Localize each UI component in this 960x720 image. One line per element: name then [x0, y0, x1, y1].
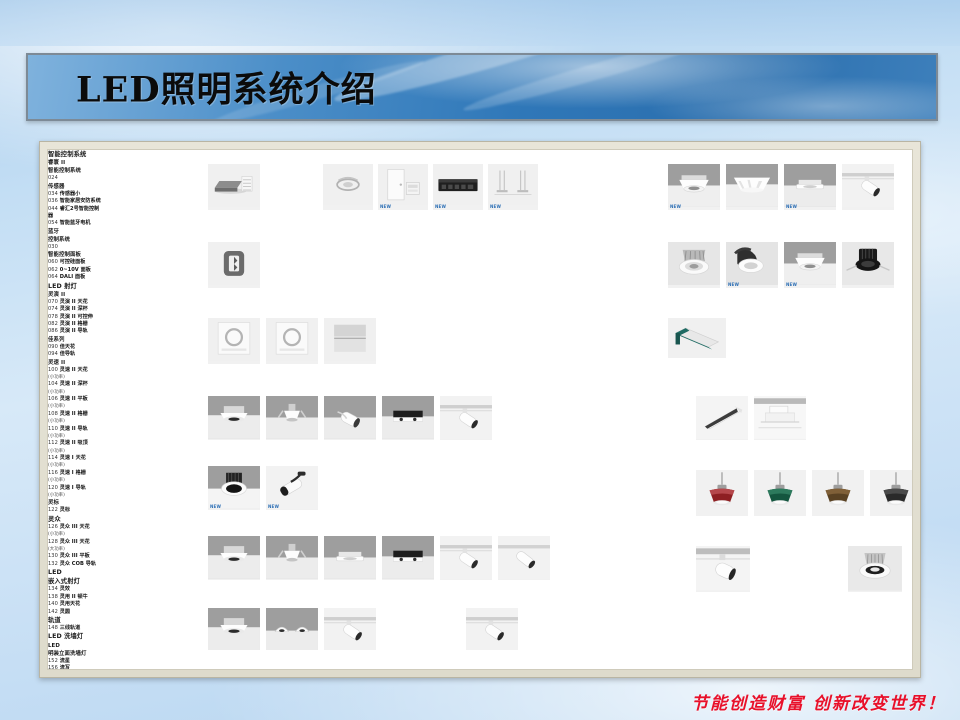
catalog-content: 智能控制系统睿寰 II 智能控制系统024传感器034 传感器小NEW036 智…	[48, 150, 912, 669]
product-thumbnail	[266, 608, 318, 650]
product-caption: 134 灵效	[48, 586, 106, 593]
product-caption: 126 灵众 III 天花(小功率)	[48, 524, 106, 539]
product-thumbnail	[668, 242, 720, 288]
product-thumbnail	[842, 242, 894, 288]
group-title: 智能控制面板	[48, 251, 912, 259]
product-thumbnail: NEW	[784, 242, 836, 288]
product-thumbnail: NEW	[668, 164, 720, 210]
product-thumbnail	[382, 396, 434, 440]
product-thumbnail	[266, 396, 318, 440]
new-badge: NEW	[490, 204, 501, 209]
product-thumbnail	[440, 536, 492, 580]
product-caption: 054 智能蓝牙电机	[48, 220, 104, 227]
product-caption: 110 灵速 II 导轨(小功率)	[48, 426, 106, 441]
product-thumbnail	[466, 608, 518, 650]
product-caption: 060 可控硅面板	[48, 259, 106, 266]
product-thumbnail	[870, 470, 913, 516]
product-thumbnail	[266, 318, 318, 364]
product-caption: 148 三线轨道	[48, 625, 112, 632]
product-caption: 044 睿汇2号智能控制器	[48, 206, 104, 221]
product-thumbnail: NEW	[784, 164, 836, 210]
footer-slogan: 节能创造财富 创新改变世界！	[691, 689, 946, 714]
product-thumbnail: NEW	[208, 466, 260, 510]
product-thumbnail	[696, 470, 748, 516]
product-caption: 116 灵速 I 格栅(小功率)	[48, 470, 106, 485]
group-title: 佳系列	[48, 336, 912, 344]
product-caption: 156 流写	[48, 665, 106, 670]
product-thumbnail	[842, 164, 894, 210]
product-caption: 024	[48, 175, 108, 182]
group-title: 灵演 II	[48, 291, 912, 299]
product-thumbnail	[324, 396, 376, 440]
product-thumbnail: NEW	[266, 466, 318, 510]
product-thumbnail	[208, 318, 260, 364]
product-caption: 132 灵众 COB 导轨	[48, 561, 106, 568]
product-thumbnail	[208, 242, 260, 288]
catalog-frame: 智能控制系统睿寰 II 智能控制系统024传感器034 传感器小NEW036 智…	[39, 141, 921, 678]
product-thumbnail	[696, 546, 750, 592]
product-thumbnail: NEW	[726, 242, 778, 288]
product-caption: 140 灵用天花	[48, 601, 106, 608]
product-thumbnail	[812, 470, 864, 516]
product-thumbnail	[324, 608, 376, 650]
product-thumbnail	[208, 536, 260, 580]
product-caption: 120 灵速 I 导轨(小功率)	[48, 485, 106, 500]
section-title: 智能控制系统	[48, 150, 912, 159]
product-caption: 074 灵演 II 深杯	[48, 306, 106, 313]
product-thumbnail	[754, 396, 806, 440]
title-banner: LED照明系统介绍	[26, 53, 938, 121]
product-thumbnail	[208, 396, 260, 440]
product-thumbnail	[324, 536, 376, 580]
product-caption: 036 智能家居安防系统	[48, 198, 104, 205]
new-badge: NEW	[380, 204, 391, 209]
product-caption: 142 灵圆	[48, 609, 106, 616]
product-thumbnail	[696, 396, 748, 440]
new-badge: NEW	[786, 204, 797, 209]
product-caption: 086 灵演 II 导轨	[48, 328, 106, 335]
product-thumbnail	[726, 164, 778, 210]
product-caption: 104 灵速 II 深杯(小功率)	[48, 381, 106, 396]
product-thumbnail	[498, 536, 550, 580]
product-thumbnail	[382, 536, 434, 580]
product-caption: 114 灵速 I 天花(小功率)	[48, 455, 106, 470]
product-thumbnail: NEW	[433, 164, 483, 210]
section-title: LED 射灯	[48, 282, 912, 291]
new-badge: NEW	[786, 282, 797, 287]
product-caption: 106 灵速 II 平板(小功率)	[48, 396, 106, 411]
product-caption: 108 灵速 II 格栅(小功率)	[48, 411, 106, 426]
product-caption: 112 灵速 II 吸顶(小功率)	[48, 440, 106, 455]
product-thumbnail	[848, 546, 902, 592]
product-caption: 094 佳导轨	[48, 351, 106, 358]
product-thumbnail: NEW	[488, 164, 538, 210]
group-title: 蓝牙 控制系统	[48, 228, 912, 244]
product-caption: 128 灵众 III 天花(大功率)	[48, 539, 106, 554]
new-badge: NEW	[670, 204, 681, 209]
product-thumbnail	[324, 318, 376, 364]
catalog-sheet: 智能控制系统睿寰 II 智能控制系统024传感器034 传感器小NEW036 智…	[47, 149, 913, 670]
product-thumbnail	[440, 396, 492, 440]
section-title: 灵众	[48, 515, 912, 524]
product-caption: 122 灵标	[48, 507, 106, 514]
product-caption: 064 DALI 面板	[48, 274, 106, 281]
product-thumbnail	[668, 318, 726, 358]
product-thumbnail: NEW	[378, 164, 428, 210]
new-badge: NEW	[268, 504, 279, 509]
page-title: LED照明系统介绍	[76, 62, 377, 113]
product-thumbnail	[323, 164, 373, 210]
product-caption: 030	[48, 244, 108, 251]
product-caption: 100 灵速 II 天花(小功率)	[48, 367, 106, 382]
product-thumbnail	[208, 608, 260, 650]
product-thumbnail	[266, 536, 318, 580]
product-caption: 078 灵演 II 可控伸	[48, 314, 106, 321]
product-thumbnail	[754, 470, 806, 516]
product-caption: 130 灵众 III 平板	[48, 553, 106, 560]
new-badge: NEW	[210, 504, 221, 509]
group-title: 灵速 II	[48, 359, 912, 367]
new-badge: NEW	[435, 204, 446, 209]
product-thumbnail	[208, 164, 260, 210]
new-badge: NEW	[728, 282, 739, 287]
